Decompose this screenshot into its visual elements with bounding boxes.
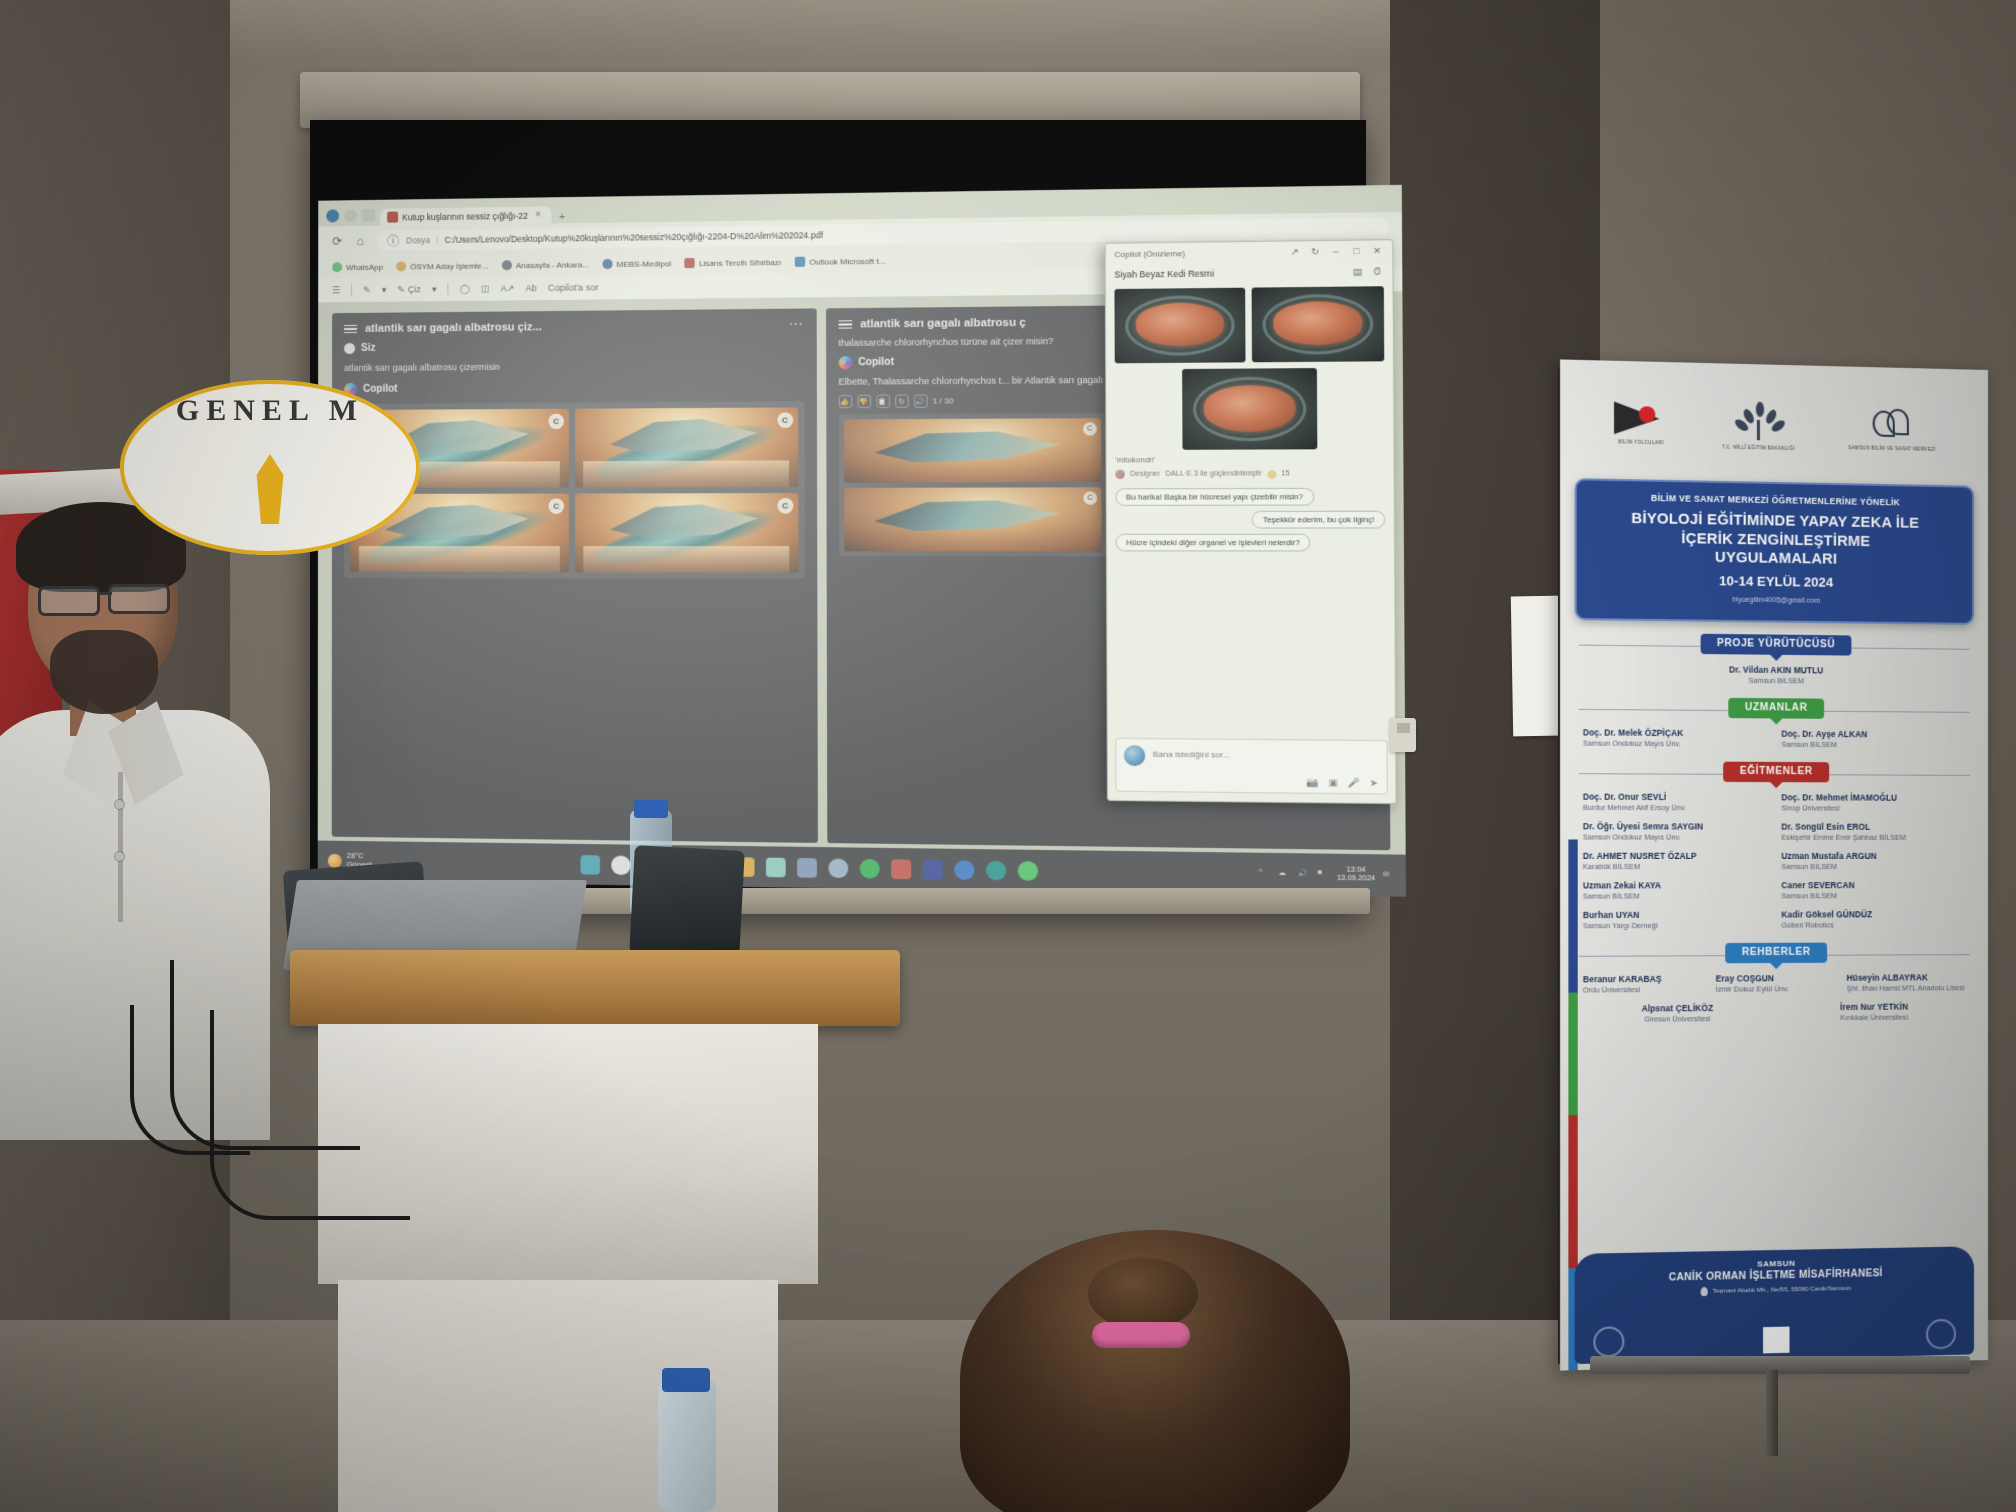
person-name: Kadir Göksel GÜNDÜZ — [1781, 910, 1966, 921]
mitochondrion-shape — [1135, 303, 1224, 347]
erase-icon[interactable]: ◯ — [460, 283, 470, 294]
person-name: Dr. AHMET NUSRET ÖZALP — [1583, 851, 1771, 862]
taskbar-app-icons — [380, 852, 1250, 884]
copilot-badge-icon: C — [548, 414, 563, 429]
rail-segment-red — [1568, 1115, 1577, 1268]
banner-title-box: BİLİM VE SANAT MERKEZİ ÖĞRETMENLERİNE YÖ… — [1575, 478, 1974, 624]
leaf-shape — [1755, 401, 1763, 416]
person-affiliation: Sinop Üniversitesi — [1781, 804, 1966, 814]
copilot-input-area[interactable]: Bana istediğini sor... 📷 ▣ 🎤 ➤ — [1115, 738, 1388, 795]
people-row: Doç. Dr. Melek ÖZPİÇAK Samsun Ondokuz Ma… — [1583, 728, 1966, 751]
water-bottle-floor-cap — [662, 1368, 710, 1392]
banner-kicker: BİLİM VE SANAT MERKEZİ ÖĞRETMENLERİNE YÖ… — [1589, 492, 1960, 509]
bird-wing-shape — [874, 431, 1059, 462]
rail-segment-blue — [1568, 839, 1577, 992]
user-avatar-icon — [344, 343, 355, 354]
copilot-badge-icon: C — [1083, 422, 1097, 435]
rail-segment-green — [1568, 993, 1577, 1116]
bookmark-outlook[interactable]: Outlook Microsoft t... — [795, 256, 886, 267]
sidebar-toggle-icon[interactable]: ☰ — [332, 285, 340, 296]
banner-logos: BİLİM YOLCULARI T.C. MİLLÎ EĞİTİM BAKANL… — [1560, 359, 1988, 482]
copilot-window: Copilot (Önizleme) ↗ ↻ – □ ✕ Siyah Beyaz… — [1105, 239, 1397, 804]
logo-caption: BİLİM YOLCULARI — [1619, 439, 1664, 446]
person-name: Burhan UYAN — [1583, 910, 1771, 921]
edge-logo-icon — [326, 209, 339, 222]
person-entry: Alpsnat ÇELİKÖZ Giresun Üniversitesi — [1583, 1003, 1771, 1025]
tree-emblem-icon — [242, 454, 298, 524]
person-affiliation: Goberi Robotics — [1781, 920, 1966, 930]
ankara-icon — [502, 260, 512, 270]
person-name: Uzman Zekai KAYA — [1583, 881, 1771, 892]
bookmark-label: MEBS-Medipol — [616, 259, 671, 269]
official-seal-icon — [1926, 1319, 1956, 1350]
person-name: Caner SEVERCAN — [1781, 881, 1966, 892]
bookmark-whatsapp[interactable]: WhatsApp — [332, 262, 383, 273]
maximize-icon[interactable]: □ — [1350, 246, 1363, 257]
bookmark-label: Lisans Tercih Sihirbazı — [699, 257, 781, 267]
outlook-icon — [795, 257, 805, 267]
people-row: Burhan UYAN Samsun Yargı Derneği Kadir G… — [1583, 910, 1966, 931]
eyeglasses-bridge — [98, 592, 112, 595]
person-affiliation: Giresun Üniversitesi — [1583, 1014, 1771, 1025]
mitochondria-image[interactable] — [1252, 286, 1385, 362]
trunk-shape — [1756, 419, 1759, 439]
whatsapp-icon — [332, 262, 342, 272]
mitochondrion-shape — [1273, 301, 1363, 345]
more-options-icon[interactable]: ··· — [789, 319, 804, 331]
chat-title: atlantik sarı gagalı albatrosu çiz... — [365, 321, 542, 335]
person-name: Dr. Songül Esin EROL — [1781, 822, 1966, 833]
albatross-image[interactable]: C — [575, 493, 798, 573]
banner-venue-block: SAMSUN CANİK ORMAN İŞLETME MİSAFİRHANESİ… — [1575, 1246, 1974, 1364]
person-name: Eray COŞGUN — [1716, 974, 1837, 985]
url-text: C:/Users/Lenovo/Desktop/Kutup%20kuşların… — [445, 230, 823, 245]
wifi-icon[interactable]: ☁ — [1278, 868, 1290, 880]
copilot-badge-icon: C — [777, 413, 793, 428]
user-message: atlantik sarı gagalı albatrosu çizermisi… — [344, 358, 804, 375]
light-switch[interactable] — [1390, 718, 1416, 752]
minimize-icon[interactable]: – — [1329, 246, 1342, 257]
pdf-favicon — [387, 212, 398, 223]
person-entry: Uzman Zekai KAYA Samsun BİLSEM — [1583, 881, 1771, 902]
person-affiliation: Samsun BİLSEM — [1781, 740, 1966, 751]
speaker-icon[interactable]: 🔊 — [914, 394, 928, 407]
toolbar-divider-2 — [448, 283, 449, 295]
people-row: Alpsnat ÇELİKÖZ Giresun Üniversitesi İre… — [1583, 1002, 1966, 1025]
albatross-image[interactable]: C — [844, 487, 1102, 551]
section-tag: PROJE YÜRÜTÜCÜSÜ — [1701, 633, 1852, 655]
eyeglasses-right-lens — [108, 584, 170, 614]
search-icon[interactable] — [611, 855, 631, 875]
person-affiliation: Eskişehir Emine Emir Şahbaz BİLSEM — [1781, 833, 1966, 843]
logo-caption: T.C. MİLLÎ EĞİTİM BAKANLIĞI — [1722, 444, 1795, 452]
monitor-right — [629, 845, 745, 959]
bilim-sanat-merkezi-logo — [1869, 406, 1915, 443]
copilot-window-title: Copilot (Önizleme) — [1114, 247, 1280, 258]
reaction-counter: 1 / 30 — [932, 396, 953, 405]
person-affiliation: İzmir Dokuz Eylül Ünv. — [1716, 984, 1837, 994]
person-affiliation: Samsun BİLSEM — [1781, 862, 1966, 871]
banner-section-uzmanlar: UZMANLAR — [1560, 696, 1988, 720]
suggestion-chip[interactable]: Bu harika! Başka bir hücresel yapı çizeb… — [1115, 488, 1314, 506]
people-row: Dr. AHMET NUSRET ÖZALP Karabük BİLSEM Uz… — [1583, 851, 1966, 871]
person-entry: Caner SEVERCAN Samsun BİLSEM — [1781, 881, 1966, 901]
tab-group-icon[interactable] — [362, 209, 375, 222]
battery-icon[interactable]: ■ — [1317, 869, 1329, 881]
person-entry: Doç. Dr. Mehmet İMAMOĞLU Sinop Üniversit… — [1781, 793, 1966, 814]
mail-icon[interactable] — [766, 857, 786, 877]
power-cable — [130, 1005, 250, 1155]
presenter-beard — [50, 630, 158, 714]
shirt-button — [115, 852, 124, 861]
qr-code — [1763, 1327, 1789, 1354]
rollup-banner: BİLİM YOLCULARI T.C. MİLLÎ EĞİTİM BAKANL… — [1560, 359, 1988, 1370]
banner-support-pole — [1766, 1370, 1778, 1456]
copilot-badge-icon: C — [777, 498, 793, 513]
person-entry: İrem Nur YETKİN Kırıkkale Üniversitesi — [1781, 1002, 1966, 1023]
osym-icon — [396, 261, 406, 271]
audience-hair-tie — [1092, 1322, 1190, 1348]
person-name: Dr. Öğr. Üyesi Semra SAYGIN — [1583, 822, 1771, 833]
mitochondrion-shape — [1203, 384, 1295, 431]
person-entry: Beranur KARABAŞ Ordu Üniversitesi — [1583, 974, 1705, 995]
home-icon[interactable]: ⌂ — [353, 234, 367, 248]
apps-icon[interactable]: ▤ — [1351, 266, 1364, 278]
chevron-down-icon[interactable]: ▾ — [382, 284, 387, 295]
user-speaker-row: Siz — [344, 339, 804, 354]
bookmark-label: Outlook Microsoft t... — [809, 256, 885, 266]
copilot-badge-icon: C — [548, 499, 563, 514]
wall-notice-sheet — [1511, 596, 1563, 737]
whatsapp-icon[interactable] — [1018, 860, 1038, 880]
person-affiliation: Burdur Mehmet Akif Ersoy Ünv. — [1583, 803, 1771, 813]
bird-wing-shape — [610, 504, 757, 539]
close-icon[interactable]: ✕ — [1371, 245, 1384, 257]
person-entry: Hüseyin ALBAYRAK Şht. Ilhan Hamsi MTL An… — [1847, 973, 1966, 994]
person-affiliation: Samsun BİLSEM — [1583, 892, 1771, 902]
copilot-input-icons: 📷 ▣ 🎤 ➤ — [1307, 777, 1378, 789]
person-entry: Eray COŞGUN İzmir Dokuz Eylül Ünv. — [1716, 974, 1837, 995]
firewall-icon[interactable] — [891, 859, 911, 879]
refresh-icon[interactable]: ↻ — [1309, 246, 1322, 258]
slide-left-panel: atlantik sarı gagalı albatrosu çiz... ··… — [332, 308, 818, 842]
copilot-suggestions: Bu harika! Başka bir hücresel yapı çizeb… — [1115, 488, 1385, 552]
logo-caption: SAMSUN BİLİM VE SANAT MERKEZİ — [1848, 445, 1936, 453]
banner-section-rehberler: REHBERLER — [1560, 942, 1988, 964]
person-entry: Dr. Öğr. Üyesi Semra SAYGIN Samsun Ondok… — [1583, 822, 1771, 843]
edge-browser-window: Kutup kuşlarının sessiz çığlığı-22 × + ⟳… — [318, 185, 1406, 897]
tab-close-icon[interactable]: × — [532, 209, 544, 220]
person-entry: Kadir Göksel GÜNDÜZ Goberi Robotics — [1781, 910, 1966, 931]
history-icon[interactable]: ⏱ — [1371, 266, 1384, 278]
draw-tool[interactable]: ✎ Çiz — [397, 284, 421, 295]
person-entry: Burhan UYAN Samsun Yargı Derneği — [1583, 910, 1771, 931]
mebs-icon — [602, 259, 612, 269]
section-tag: UZMANLAR — [1729, 698, 1824, 719]
credit-source: Designer — [1130, 471, 1160, 478]
venue-address: Teşmani Abalık Mh., Ne/55, 55080 Canik/S… — [1712, 1285, 1851, 1295]
people-row: Dr. Öğr. Üyesi Semra SAYGIN Samsun Ondok… — [1583, 822, 1966, 843]
sun-icon — [328, 854, 342, 868]
plugin-icon[interactable]: ▣ — [1329, 777, 1338, 789]
banner-date: 10-14 EYLÜL 2024 — [1589, 571, 1960, 591]
notification-icon[interactable]: ✉ — [1383, 870, 1395, 882]
reading-view-icon[interactable]: ◫ — [481, 283, 490, 294]
clock-time: 13:04 — [1346, 866, 1365, 874]
location-pin-icon — [1701, 1287, 1708, 1296]
microphone-icon[interactable]: 🎤 — [1348, 777, 1360, 789]
zoom-icon[interactable] — [955, 860, 975, 880]
refresh-icon[interactable]: ↻ — [895, 395, 909, 408]
ceiling-trim — [230, 0, 1410, 60]
reload-icon[interactable]: ⟳ — [330, 234, 344, 248]
url-scheme: Dosya — [406, 235, 430, 245]
person-affiliation: Samsun Yargı Derneği — [1583, 921, 1771, 931]
official-seal-icon — [1593, 1326, 1624, 1357]
flag-circle-shape — [1639, 406, 1656, 423]
media-player-icon[interactable] — [829, 858, 849, 878]
teams-icon[interactable] — [923, 859, 943, 879]
hamburger-icon[interactable] — [344, 325, 357, 334]
bookmark-mebs[interactable]: MEBS-Medipol — [602, 258, 671, 269]
tubitak-tree-logo — [1735, 401, 1782, 442]
audience-hair-bun — [1088, 1258, 1198, 1330]
open-in-new-icon[interactable]: ↗ — [1288, 246, 1301, 258]
bilsem-bayrak-logo — [1614, 401, 1668, 437]
audience-member — [960, 1230, 1350, 1512]
room-photo: Kutup kuşlarının sessiz çığlığı-22 × + ⟳… — [0, 0, 2016, 1512]
reward-coin-icon — [1267, 470, 1276, 478]
bookmark-label: ÖSYM Aday İşlemle... — [410, 261, 488, 271]
copy-icon[interactable]: 📋 — [876, 395, 890, 408]
chat-header-left: atlantik sarı gagalı albatrosu çiz... ··… — [344, 319, 804, 335]
swirl-shape — [1887, 408, 1909, 435]
read-aloud-icon[interactable]: A↗ — [501, 283, 515, 294]
person-name: Doç. Dr. Mehmet İMAMOĞLU — [1781, 793, 1966, 804]
projected-screen: Kutup kuşlarının sessiz çığlığı-22 × + ⟳… — [318, 185, 1406, 897]
section-people-egitmenler: Doç. Dr. Onur SEVLİ Burdur Mehmet Akif E… — [1560, 781, 1988, 931]
spotify-icon[interactable] — [860, 858, 880, 878]
copilot-input-placeholder: Bana istediğini sor... — [1153, 745, 1230, 759]
logo-meb: T.C. MİLLÎ EĞİTİM BAKANLIĞI — [1722, 400, 1795, 451]
mitochondria-image-grid — [1114, 286, 1384, 450]
send-icon[interactable]: ➤ — [1370, 778, 1378, 790]
chat-title: atlantik sarı gagalı albatrosu ç — [860, 317, 1026, 331]
chevron-up-icon[interactable]: ^ — [1259, 868, 1271, 880]
person-entry: Dr. Vildan AKIN MUTLU Samsun BİLSEM — [1583, 664, 1966, 688]
person-entry: Doç. Dr. Melek ÖZPİÇAK Samsun Ondokuz Ma… — [1583, 728, 1771, 749]
image-caption: 'mitokondri' — [1115, 454, 1385, 464]
person-entry: Dr. AHMET NUSRET ÖZALP Karabük BİLSEM — [1583, 851, 1771, 871]
person-name: Beranur KARABAŞ — [1583, 974, 1705, 986]
person-name: Hüseyin ALBAYRAK — [1847, 973, 1966, 984]
image-credit: Designer DALL·E 3 ile güçlendirilmiştir … — [1115, 469, 1385, 479]
suggestion-chip[interactable]: Hücre içindeki diğer organel ve işlevler… — [1115, 534, 1310, 552]
section-people-rehberler: Beranur KARABAŞ Ordu Üniversitesi Eray C… — [1560, 962, 1988, 1025]
user-name: Siz — [361, 343, 375, 354]
people-row: Dr. Vildan AKIN MUTLU Samsun BİLSEM — [1583, 664, 1966, 688]
person-affiliation: Kırıkkale Üniversitesi — [1781, 1013, 1966, 1024]
banner-section-egitmenler: EĞİTMENLER — [1560, 760, 1988, 782]
people-row: Beranur KARABAŞ Ordu Üniversitesi Eray C… — [1583, 973, 1966, 995]
person-entry: Dr. Songül Esin EROL Eskişehir Emine Emi… — [1781, 822, 1966, 842]
credit-count: 15 — [1281, 470, 1289, 477]
conversation-title: Siyah Beyaz Kedi Resmi — [1114, 267, 1344, 280]
info-icon: ⓘ — [386, 234, 400, 248]
water-bottle-floor — [658, 1380, 716, 1512]
assistant-name: Copilot — [858, 357, 894, 369]
highlight-icon[interactable]: ✎ — [363, 284, 371, 295]
podium-emblem-text: GENEL M — [120, 394, 420, 428]
person-entry: Doç. Dr. Onur SEVLİ Burdur Mehmet Akif E… — [1583, 792, 1771, 813]
podium-emblem: GENEL M — [120, 380, 420, 555]
albatross-image[interactable]: C — [575, 407, 798, 487]
person-affiliation: Ordu Üniversitesi — [1583, 985, 1705, 995]
person-entry: Uzman Mustafa ARGUN Samsun BİLSEM — [1781, 852, 1966, 872]
person-name: Doç. Dr. Onur SEVLİ — [1583, 792, 1771, 803]
thumbs-down-icon[interactable]: 👎 — [857, 395, 871, 408]
designer-icon — [1115, 470, 1125, 479]
people-row: Doç. Dr. Onur SEVLİ Burdur Mehmet Akif E… — [1583, 792, 1966, 813]
image-upload-icon[interactable]: 📷 — [1307, 777, 1319, 789]
section-tag: REHBERLER — [1725, 942, 1827, 963]
copilot-conversation-body: 'mitokondri' Designer DALL·E 3 ile güçle… — [1106, 282, 1395, 736]
bookmark-label: WhatsApp — [346, 262, 383, 271]
bird-wing-shape — [874, 500, 1059, 531]
section-tag: EĞİTMENLER — [1723, 761, 1829, 782]
person-affiliation: Samsun Ondokuz Mayıs Ünv. — [1583, 833, 1771, 843]
credit-text: DALL·E 3 ile güçlendirilmiştir — [1165, 470, 1261, 478]
eyeglasses-left-lens — [38, 586, 100, 616]
lisans-icon — [684, 258, 694, 268]
text-size-icon[interactable]: Ab — [526, 283, 537, 293]
thumbs-up-icon[interactable]: 👍 — [838, 395, 852, 408]
person-affiliation: Karabük BİLSEM — [1583, 862, 1771, 872]
lastpass-icon[interactable] — [797, 858, 817, 878]
sound-icon[interactable]: 🔊 — [1298, 868, 1310, 880]
banner-email: biyoegitim4005@gmail.com — [1589, 594, 1960, 606]
bird-wing-shape — [610, 419, 757, 454]
people-row: Uzman Zekai KAYA Samsun BİLSEM Caner SEV… — [1583, 881, 1966, 902]
bookmark-osym[interactable]: ÖSYM Aday İşlemle... — [396, 260, 488, 271]
tab-title: Kutup kuşlarının sessiz çığlığı-22 — [402, 210, 528, 222]
taskbar-clock[interactable]: 13:04 13.09.2024 — [1337, 866, 1375, 883]
bird-wing-shape — [385, 505, 529, 540]
copilot-badge-icon: C — [1083, 492, 1097, 505]
shirt-button — [115, 800, 124, 809]
toolbar-divider — [351, 284, 352, 296]
clock-date: 13.09.2024 — [1337, 875, 1375, 883]
copilot-logo-icon — [838, 356, 852, 369]
shield-icon[interactable] — [344, 209, 357, 222]
new-tab-button[interactable]: + — [556, 212, 568, 223]
mitochondria-image[interactable] — [1114, 288, 1245, 364]
bookmark-lisans-tercih[interactable]: Lisans Tercih Sihirbazı — [684, 257, 781, 268]
person-affiliation: Şht. Ilhan Hamsi MTL Anadolu Lisesi — [1847, 984, 1966, 994]
chevron-down-icon-2[interactable]: ▾ — [432, 284, 437, 295]
logo-bilim-yolculari: BİLİM YOLCULARI — [1614, 401, 1668, 446]
copilot-avatar-icon — [1124, 745, 1145, 766]
start-icon[interactable] — [581, 855, 600, 875]
venue-seals — [1575, 1318, 1974, 1358]
bookmark-label: Anasayfa - Ankara... — [516, 260, 589, 270]
logo-bilsem: SAMSUN BİLİM VE SANAT MERKEZİ — [1848, 405, 1936, 452]
person-affiliation: Samsun BİLSEM — [1781, 891, 1966, 901]
bookmark-ankara[interactable]: Anasayfa - Ankara... — [502, 259, 589, 270]
person-entry: Doç. Dr. Ayşe ALKAN Samsun BİLSEM — [1781, 729, 1966, 750]
draw-label: Çiz — [408, 284, 421, 294]
url-divider: | — [436, 235, 438, 245]
mitochondria-image[interactable] — [1182, 368, 1317, 450]
person-affiliation: Samsun Ondokuz Mayıs Ünv. — [1583, 739, 1771, 750]
system-tray: ^ ☁ 🔊 ■ 13:04 13.09.2024 ✉ — [1259, 865, 1395, 884]
albatross-image[interactable]: C — [844, 418, 1102, 483]
banner-base — [1590, 1356, 1970, 1374]
suggestion-chip[interactable]: Teşekkür ederim, bu çok ilginç! — [1252, 511, 1385, 529]
presenter-placket — [118, 772, 123, 922]
person-name: Uzman Mustafa ARGUN — [1781, 852, 1966, 863]
edge-icon[interactable] — [986, 860, 1006, 880]
water-bottle-cap — [634, 800, 668, 818]
copilot-ask-button[interactable]: Copilot'a sor — [548, 282, 599, 293]
hamburger-icon[interactable] — [838, 320, 852, 329]
